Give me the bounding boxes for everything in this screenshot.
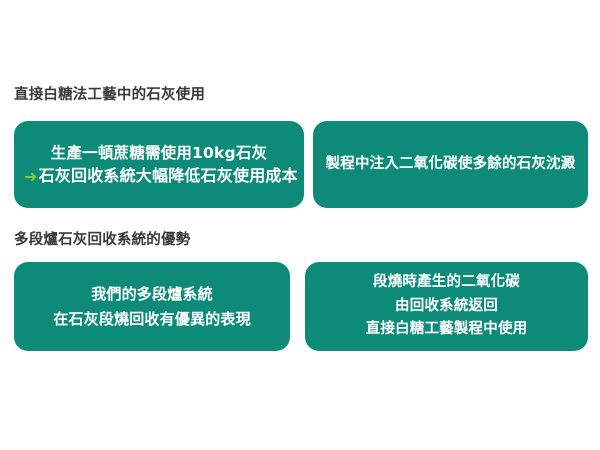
card-line: 在石灰段燒回收有優異的表現 <box>24 307 280 331</box>
card-line-with-arrow: ➜石灰回收系統大幅降低石灰使用成本 <box>24 164 294 187</box>
card-line: 段燒時產生的二氧化碳 <box>315 271 578 294</box>
slide-canvas: 直接白糖法工藝中的石灰使用 生產一頓蔗糖需使用10kg石灰 ➜石灰回收系統大幅降… <box>0 0 600 450</box>
card-line: 由回收系統返回 <box>315 295 578 318</box>
card-lime-consumption: 生產一頓蔗糖需使用10kg石灰 ➜石灰回收系統大幅降低石灰使用成本 <box>14 121 304 208</box>
card-multi-hearth-performance: 我們的多段爐系統 在石灰段燒回收有優異的表現 <box>14 262 290 351</box>
card-line: 我們的多段爐系統 <box>24 282 280 306</box>
arrow-right-icon: ➜ <box>24 165 38 188</box>
card-co2-injection: 製程中注入二氧化碳使多餘的石灰沈澱 <box>313 121 588 208</box>
card-line-text: 石灰回收系統大幅降低石灰使用成本 <box>39 166 298 185</box>
section-title-system-advantages: 多段爐石灰回收系統的優勢 <box>14 233 190 248</box>
section-title-lime-usage: 直接白糖法工藝中的石灰使用 <box>14 88 205 103</box>
card-line: 製程中注入二氧化碳使多餘的石灰沈澱 <box>323 154 578 175</box>
card-co2-recycling-loop: 段燒時產生的二氧化碳 由回收系統返回 直接白糖工藝製程中使用 <box>305 262 588 351</box>
card-line: 生產一頓蔗糖需使用10kg石灰 <box>24 142 294 164</box>
card-line: 直接白糖工藝製程中使用 <box>315 318 578 341</box>
